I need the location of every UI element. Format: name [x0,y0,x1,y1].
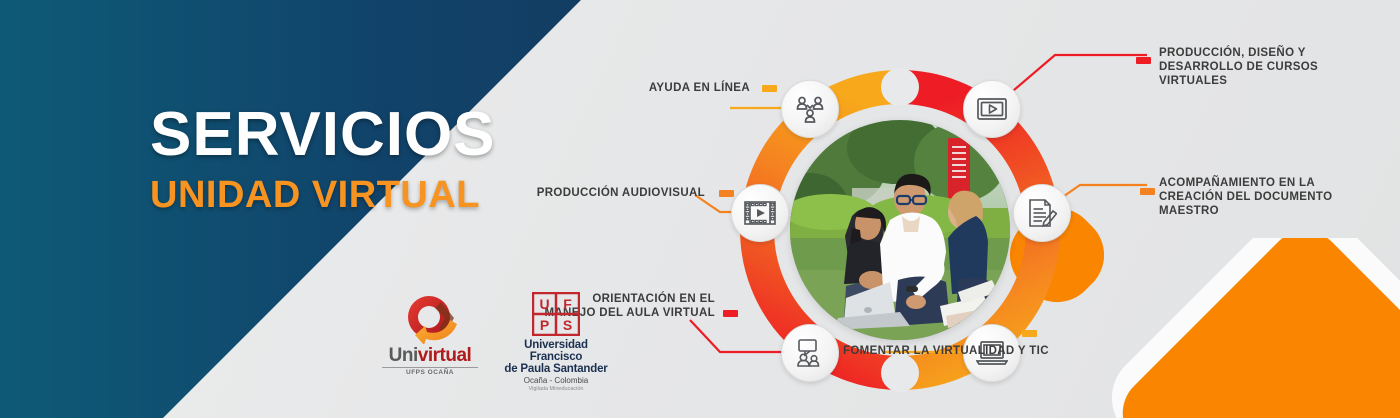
service-icon-documento-maestro[interactable] [1013,184,1071,242]
univirtual-mark-icon [401,292,459,344]
univirtual-subtitle: UFPS OCAÑA [382,367,478,376]
service-icon-produccion-audiovisual[interactable] [731,184,789,242]
svg-text:U: U [539,296,549,312]
label-fomentar-virtualidad-tic: FOMENTAR LA VIRTUALIDAD Y TIC [843,344,1073,358]
label-produccion-cursos-virtuales: PRODUCCIÓN, DISEÑO Y DESARROLLO DE CURSO… [1159,46,1374,88]
ufps-name-line2: de Paula Santander [500,363,612,375]
ufps-city: Ocaña - Colombia [500,376,612,386]
people-group-icon [795,94,825,124]
film-play-icon [744,200,776,226]
service-icon-orientacion-aula-virtual[interactable] [781,324,839,382]
ufps-name-line1: Universidad Francisco [500,339,612,363]
svg-text:F: F [563,296,572,312]
ufps-ministry-note: Vigilada Mineducación [500,386,612,393]
label-cursos-line1: PRODUCCIÓN, DISEÑO Y [1159,46,1374,60]
connector-dash-cursos [1136,57,1151,64]
label-cursos-line2: DESARROLLO DE CURSOS [1159,60,1374,74]
headline-primary: SERVICIOS [150,104,496,166]
label-cursos-line3: VIRTUALES [1159,74,1374,88]
service-icon-ayuda-en-linea[interactable] [781,80,839,138]
page-title: SERVICIOS UNIDAD VIRTUAL [150,104,496,218]
label-ayuda-en-linea: AYUDA EN LÍNEA [600,81,750,95]
univirtual-word-second: virtual [418,345,472,366]
univirtual-word-first: Uni [389,345,418,366]
video-play-icon [977,97,1007,121]
label-documento-maestro: ACOMPAÑAMIENTO EN LA CREACIÓN DEL DOCUME… [1159,176,1379,218]
document-pen-icon [1027,198,1057,228]
orange-corner-group [1070,238,1400,418]
headline-secondary: UNIDAD VIRTUAL [150,172,496,218]
label-documento-line3: MAESTRO [1159,204,1379,218]
connector-dash-fomentar [1022,330,1037,337]
univirtual-logo: Univirtual UFPS OCAÑA [382,292,478,376]
connector-dash-documento [1140,188,1155,195]
banner-root: SERVICIOS UNIDAD VIRTUAL [0,0,1400,418]
ufps-logo: U F P S Universidad Francisco de Paula S… [500,292,612,393]
connector-dash-orientacion [723,310,738,317]
presentation-training-icon [795,339,825,367]
connector-dash-audiovisual [719,190,734,197]
ufps-mark-icon: U F P S [532,292,580,336]
svg-text:S: S [563,317,572,333]
label-produccion-audiovisual: PRODUCCIÓN AUDIOVISUAL [500,186,705,200]
svg-text:P: P [540,317,549,333]
label-documento-line2: CREACIÓN DEL DOCUMENTO [1159,190,1379,204]
label-documento-line1: ACOMPAÑAMIENTO EN LA [1159,176,1379,190]
service-icon-produccion-cursos-virtuales[interactable] [963,80,1021,138]
logo-group: Univirtual UFPS OCAÑA U F P S Universida… [382,292,612,393]
univirtual-wordmark: Univirtual [382,346,478,366]
connector-dash-ayuda [762,85,777,92]
